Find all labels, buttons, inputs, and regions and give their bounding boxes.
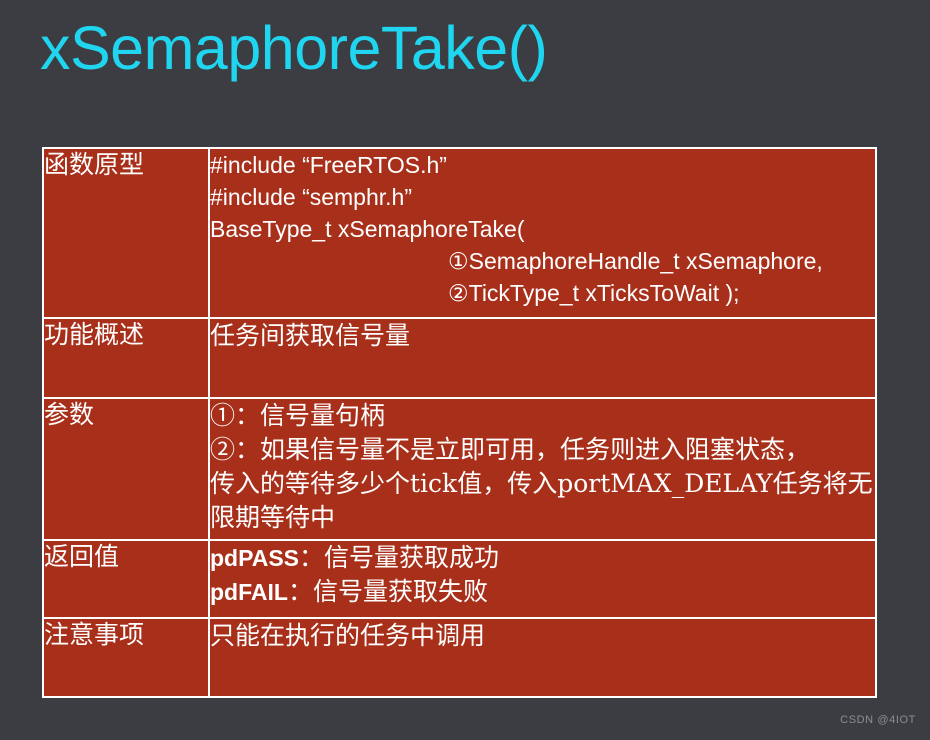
table-row: 返回值 pdPASS：信号量获取成功 pdFAIL：信号量获取失败 — [43, 540, 876, 618]
notes-line-1: 只能在执行的任务中调用 — [210, 619, 875, 653]
row-label-notes: 注意事项 — [43, 618, 209, 697]
return-code-pass: pdPASS — [210, 545, 299, 571]
return-code-fail: pdFAIL — [210, 579, 288, 605]
function-spec-table: 函数原型 #include “FreeRTOS.h” #include “sem… — [42, 147, 877, 698]
table-row: 功能概述 任务间获取信号量 — [43, 318, 876, 398]
description-line-1: 任务间获取信号量 — [210, 319, 875, 353]
prototype-line-3: BaseType_t xSemaphoreTake( — [210, 213, 875, 245]
row-label-description: 功能概述 — [43, 318, 209, 398]
return-line-pass: pdPASS：信号量获取成功 — [210, 541, 875, 575]
row-value-notes: 只能在执行的任务中调用 — [209, 618, 876, 697]
prototype-line-1: #include “FreeRTOS.h” — [210, 149, 875, 181]
parameter-line-4: 限期等待中 — [210, 501, 875, 535]
prototype-param-1: ①SemaphoreHandle_t xSemaphore, — [210, 245, 875, 277]
return-text-fail: ：信号量获取失败 — [288, 577, 488, 606]
parameter-line-1: ①：信号量句柄 — [210, 399, 875, 433]
table-row: 注意事项 只能在执行的任务中调用 — [43, 618, 876, 697]
return-text-pass: ：信号量获取成功 — [299, 543, 499, 572]
row-value-return-value: pdPASS：信号量获取成功 pdFAIL：信号量获取失败 — [209, 540, 876, 618]
page-title: xSemaphoreTake() — [40, 8, 547, 88]
slide-canvas: xSemaphoreTake() 函数原型 #include “FreeRTOS… — [0, 0, 930, 740]
return-line-fail: pdFAIL：信号量获取失败 — [210, 575, 875, 609]
row-value-parameters: ①：信号量句柄 ②：如果信号量不是立即可用，任务则进入阻塞状态， 传入的等待多少… — [209, 398, 876, 540]
row-label-return-value: 返回值 — [43, 540, 209, 618]
row-label-parameters: 参数 — [43, 398, 209, 540]
parameter-line-3: 传入的等待多少个tick值，传入portMAX_DELAY任务将无 — [210, 467, 875, 501]
prototype-line-2: #include “semphr.h” — [210, 181, 875, 213]
parameter-line-2: ②：如果信号量不是立即可用，任务则进入阻塞状态， — [210, 433, 875, 467]
table-row: 参数 ①：信号量句柄 ②：如果信号量不是立即可用，任务则进入阻塞状态， 传入的等… — [43, 398, 876, 540]
row-value-description: 任务间获取信号量 — [209, 318, 876, 398]
table-row: 函数原型 #include “FreeRTOS.h” #include “sem… — [43, 148, 876, 318]
watermark: CSDN @4IOT — [840, 714, 916, 726]
row-value-function-prototype: #include “FreeRTOS.h” #include “semphr.h… — [209, 148, 876, 318]
prototype-param-2: ②TickType_t xTicksToWait ); — [210, 277, 875, 309]
row-label-function-prototype: 函数原型 — [43, 148, 209, 318]
